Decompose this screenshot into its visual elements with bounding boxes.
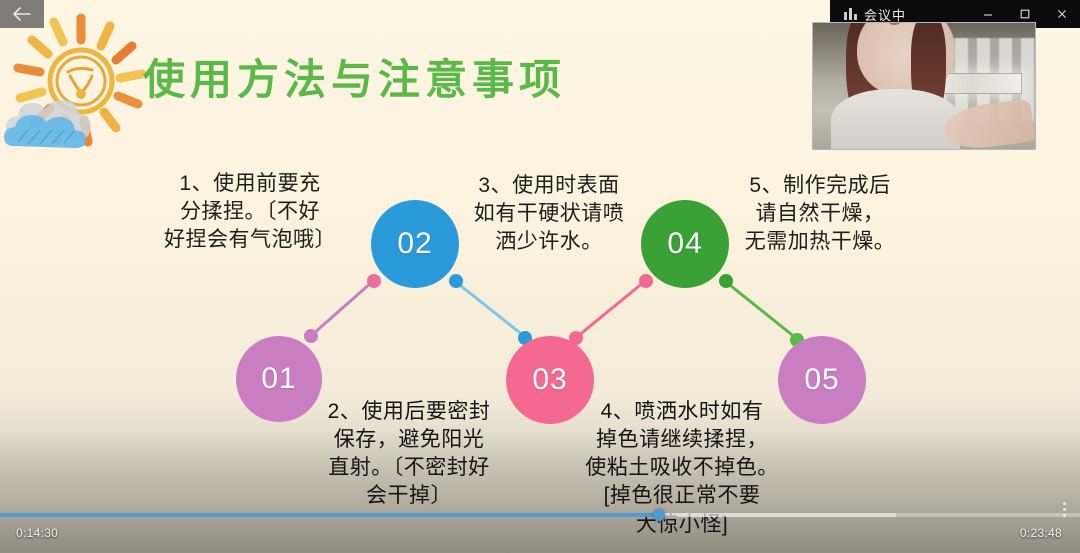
- close-icon: [1056, 8, 1068, 20]
- camera-overlay: [813, 23, 1035, 149]
- playback-bar: 0:14:30 0:23:48: [0, 497, 1080, 553]
- step-node-02: 02: [371, 200, 459, 288]
- step-node-04: 04: [641, 200, 729, 288]
- signal-bars-icon: [844, 8, 857, 20]
- progress-played: [0, 513, 659, 517]
- meeting-status-label: 会议中: [864, 5, 906, 24]
- participant-camera[interactable]: [812, 22, 1036, 150]
- back-arrow-icon: [12, 6, 32, 22]
- progress-track[interactable]: [0, 513, 1080, 517]
- step-text-1: 1、使用前要充 分揉捏。〔不好 好捏会有气泡哦〕: [152, 170, 348, 254]
- step-text-5: 5、制作完成后 请自然干燥， 无需加热干燥。: [726, 172, 914, 256]
- minimize-icon: [982, 8, 994, 20]
- back-button[interactable]: [0, 0, 44, 28]
- current-time-label: 0:14:30: [16, 526, 58, 540]
- step-text-2: 2、使用后要密封 保存，避免阳光 直射。〔不密封好 会干掉〕: [300, 398, 518, 511]
- total-time-label: 0:23:48: [1020, 526, 1062, 540]
- maximize-icon: [1019, 8, 1031, 20]
- close-button[interactable]: [1043, 0, 1080, 28]
- more-vertical-icon[interactable]: [1063, 502, 1066, 517]
- progress-handle[interactable]: [653, 509, 665, 521]
- step-text-3: 3、使用时表面 如有干硬状请喷 洒少许水。: [452, 172, 646, 256]
- meeting-window: 使用方法与注意事项 01 02 03 04 05 1、使用前要充 分揉捏。〔不好…: [0, 0, 1080, 553]
